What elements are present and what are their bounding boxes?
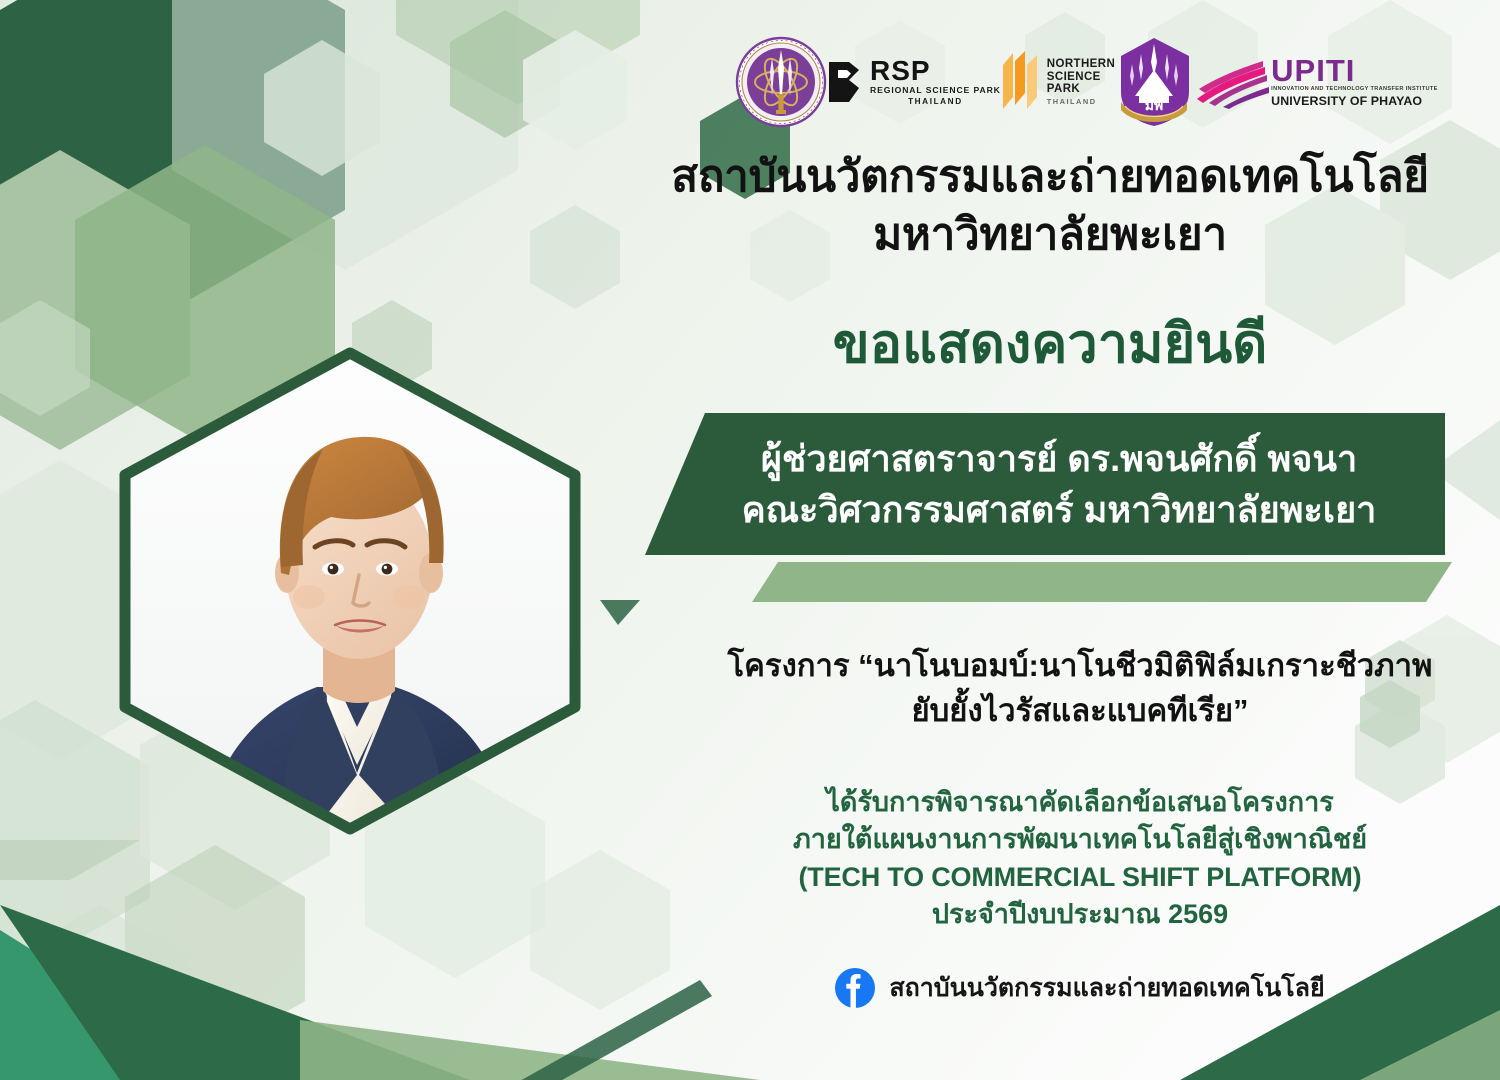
rsp-title: RSP <box>870 58 1001 85</box>
northern-science-park-logo: NORTHERN SCIENCE PARK THAILAND <box>1001 51 1115 113</box>
honoree-name: ผู้ช่วยศาสตราจารย์ ดร.พจนศักดิ์ พจนา <box>761 433 1357 484</box>
rsp-mark-icon <box>827 60 863 104</box>
facebook-icon[interactable] <box>835 968 875 1008</box>
facebook-page-name[interactable]: สถาบันนวัตกรรมและถ่ายทอดเทคโนโลยี <box>889 976 1324 1001</box>
nsp-mark-icon <box>1001 51 1041 113</box>
rsp-subtitle: REGIONAL SCIENCE PARK <box>870 86 1001 95</box>
organization-title: สถาบันนวัตกรรมและถ่ายทอดเทคโนโลยี มหาวิท… <box>640 148 1460 264</box>
upiti-subtitle: INNOVATION AND TECHNOLOGY TRANSFER INSTI… <box>1271 87 1438 93</box>
nsp-line-2: SCIENCE <box>1047 71 1115 83</box>
project-title: โครงการ “นาโนบอมบ์:นาโนชีวมิติฟิล์มเกราะ… <box>690 644 1470 734</box>
partner-logo-row: RSP REGIONAL SCIENCE PARK THAILAND NORTH… <box>735 32 1405 132</box>
regional-science-park-seal-icon <box>735 36 827 128</box>
award-line-2: ภายใต้แผนงานการพัฒนาเทคโนโลยีสู่เชิงพาณิ… <box>700 821 1460 858</box>
nsp-line-1: NORTHERN <box>1047 58 1115 70</box>
upiti-mark-icon <box>1193 55 1269 109</box>
upiti-title: UPITI <box>1271 57 1438 86</box>
award-line-3: (TECH TO COMMERCIAL SHIFT PLATFORM) <box>700 859 1460 896</box>
award-line-4: ประจำปีงบประมาณ 2569 <box>700 896 1460 933</box>
org-title-line-1: สถาบันนวัตกรรมและถ่ายทอดเทคโนโลยี <box>640 148 1460 206</box>
project-title-line-1: โครงการ “นาโนบอมบ์:นาโนชีวมิติฟิล์มเกราะ… <box>690 644 1470 689</box>
honoree-name-banner: ผู้ช่วยศาสตราจารย์ ดร.พจนศักดิ์ พจนา คณะ… <box>645 413 1445 555</box>
project-title-line-2: ยับยั้งไวรัสและแบคทีเรีย” <box>690 689 1470 734</box>
name-banner-accent-bar <box>752 562 1452 602</box>
university-of-phayao-crest-icon: มพ <box>1115 36 1193 128</box>
upiti-logo: UPITI INNOVATION AND TECHNOLOGY TRANSFER… <box>1193 55 1438 109</box>
award-description: ได้รับการพิจารณาคัดเลือกข้อเสนอโครงการ ภ… <box>700 784 1460 933</box>
svg-text:มพ: มพ <box>1145 98 1163 114</box>
nsp-line-3: PARK <box>1047 83 1115 95</box>
congratulations-poster: ผู้ช่วยศาสตราจารย์ ดร.พจนศักดิ์ พจนา คณะ… <box>0 0 1500 1080</box>
award-line-1: ได้รับการพิจารณาคัดเลือกข้อเสนอโครงการ <box>700 784 1460 821</box>
upiti-org: UNIVERSITY OF PHAYAO <box>1271 95 1438 107</box>
portrait-frame <box>95 335 605 835</box>
rsp-logo: RSP REGIONAL SCIENCE PARK THAILAND <box>827 58 1001 106</box>
nsp-country: THAILAND <box>1047 98 1115 106</box>
honoree-affiliation: คณะวิศวกรรมศาสตร์ มหาวิทยาลัยพะเยา <box>742 484 1377 535</box>
rsp-country: THAILAND <box>870 98 1001 106</box>
portrait-photo <box>95 335 605 835</box>
congratulations-heading: ขอแสดงความยินดี <box>640 312 1460 377</box>
facebook-footer[interactable]: สถาบันนวัตกรรมและถ่ายทอดเทคโนโลยี <box>700 968 1460 1008</box>
org-title-line-2: มหาวิทยาลัยพะเยา <box>640 206 1460 264</box>
